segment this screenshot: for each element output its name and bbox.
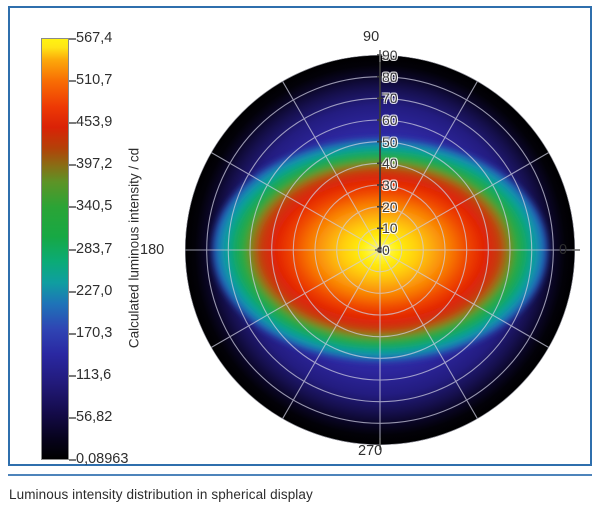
colorbar-tick-label: 397,2 (76, 157, 112, 172)
colorbar (41, 38, 69, 460)
radial-tick-label: 10 (382, 221, 398, 235)
colorbar-tick (69, 333, 76, 335)
radial-tick-labels: 0102030405060708090 (180, 26, 580, 466)
caption-separator (8, 474, 592, 476)
colorbar-tick-label: 113,6 (76, 368, 111, 383)
colorbar-tick-label: 227,0 (76, 283, 112, 298)
radial-tick-label: 20 (382, 200, 398, 214)
radial-tick-label: 90 (382, 48, 398, 62)
figure-caption: Luminous intensity distribution in spher… (9, 486, 589, 504)
colorbar-tick-label: 283,7 (76, 241, 112, 256)
azimuth-label-180: 180 (140, 243, 164, 258)
colorbar-tick (69, 164, 76, 166)
figure-frame: 567,4510,7453,9397,2340,5283,7227,0170,3… (8, 6, 592, 466)
radial-tick-label: 80 (382, 70, 398, 84)
colorbar-tick (69, 417, 76, 419)
colorbar-tick (69, 249, 76, 251)
radial-tick-label: 60 (382, 113, 398, 127)
colorbar-gradient (41, 38, 69, 460)
colorbar-tick (69, 122, 76, 124)
polar-plot: 90 0 180 270 0102030405060708090 (180, 26, 580, 466)
colorbar-tick (69, 38, 76, 40)
colorbar-tick-label: 340,5 (76, 199, 112, 214)
colorbar-tick-label: 0,08963 (76, 452, 128, 467)
colorbar-tick-label: 510,7 (76, 73, 112, 88)
colorbar-tick-label: 453,9 (76, 115, 112, 130)
colorbar-tick-label: 170,3 (76, 325, 112, 340)
colorbar-tick (69, 206, 76, 208)
radial-tick-label: 40 (382, 156, 398, 170)
colorbar-tick (69, 375, 76, 377)
figure-root: 567,4510,7453,9397,2340,5283,7227,0170,3… (0, 0, 600, 512)
radial-tick-label: 0 (382, 243, 390, 257)
radial-tick-label: 70 (382, 91, 398, 105)
colorbar-tick (69, 80, 76, 82)
radial-tick-label: 30 (382, 178, 398, 192)
colorbar-tick (69, 459, 76, 461)
colorbar-tick-label: 56,82 (76, 410, 112, 425)
radial-tick-label: 50 (382, 135, 398, 149)
colorbar-tick (69, 291, 76, 293)
colorbar-tick-label: 567,4 (76, 31, 112, 46)
